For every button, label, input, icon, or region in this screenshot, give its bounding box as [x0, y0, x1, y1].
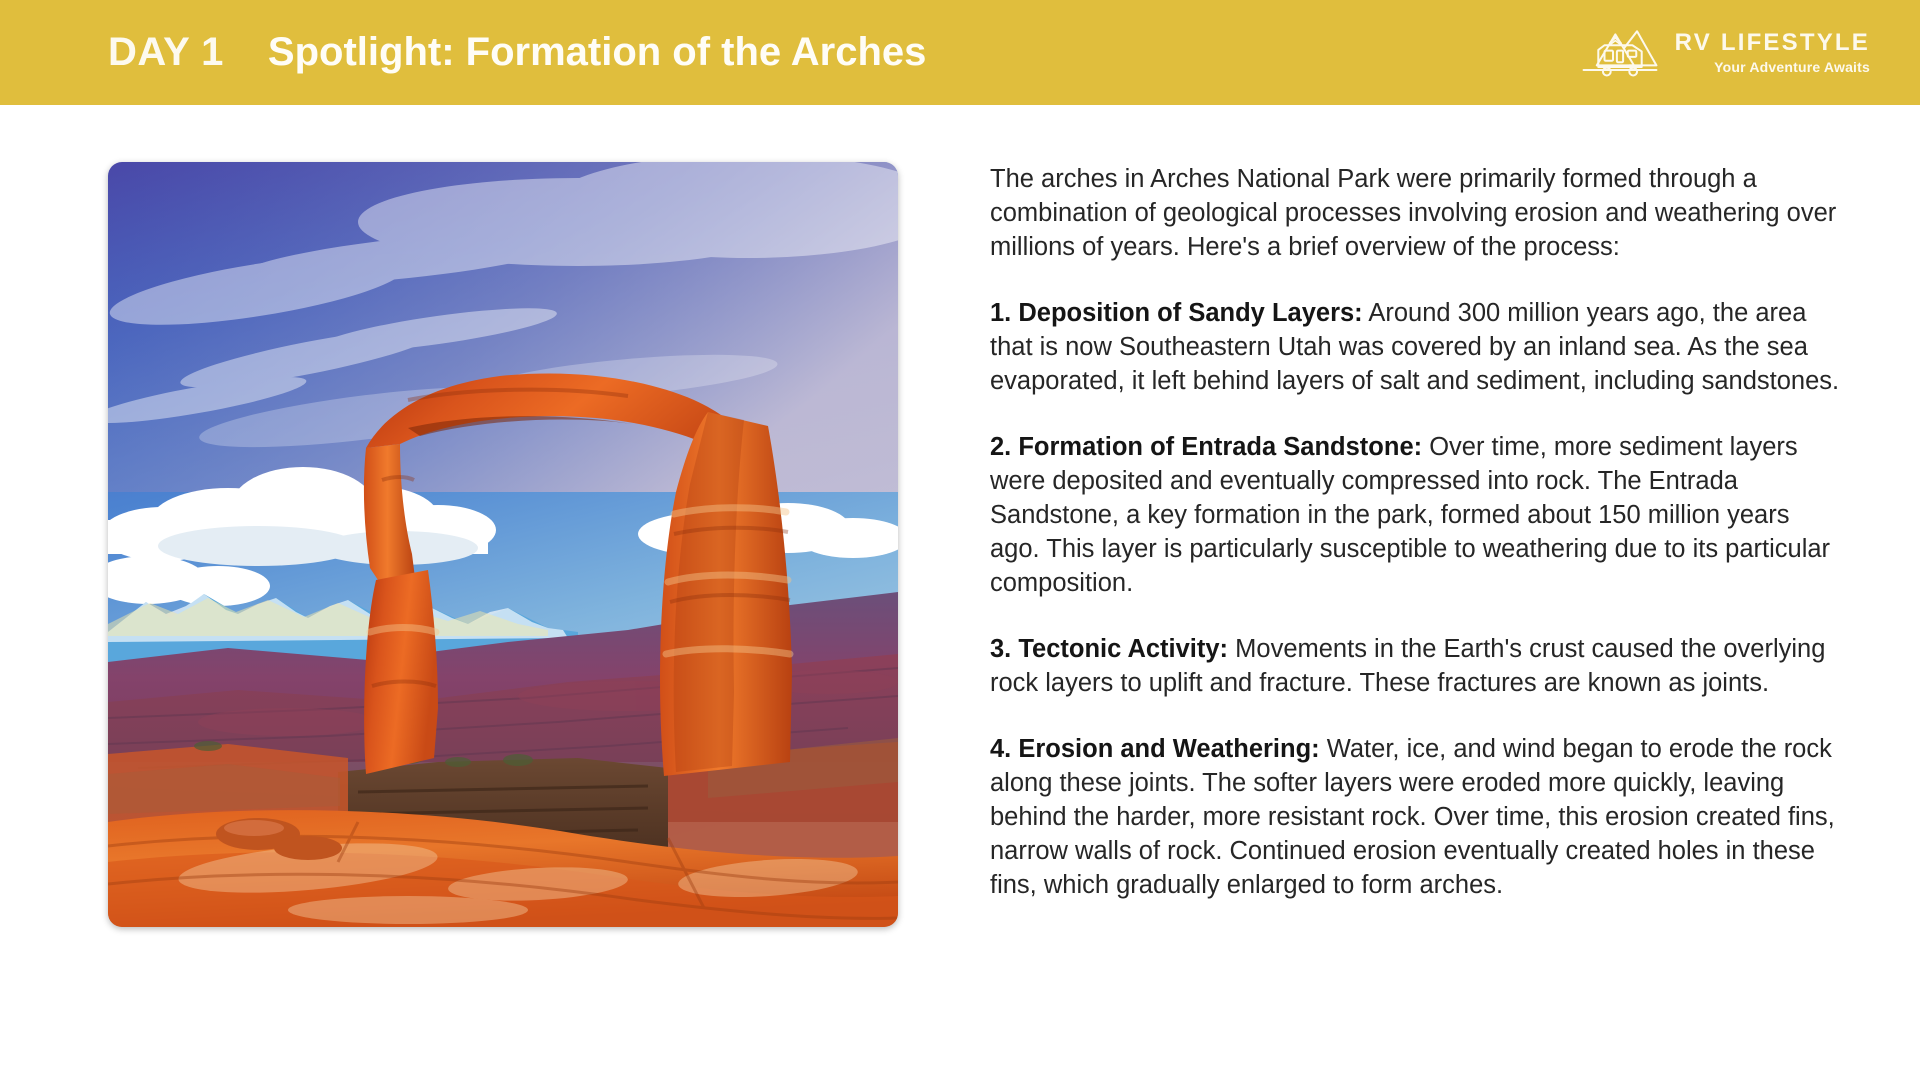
page-title: Spotlight: Formation of the Arches — [268, 30, 927, 75]
brand-logo: RV LIFESTYLE Your Adventure Awaits — [1581, 22, 1870, 84]
page-header: DAY 1 Spotlight: Formation of the Arches — [0, 0, 1920, 105]
paragraph-step-1: 1. Deposition of Sandy Layers: Around 30… — [990, 296, 1840, 398]
paragraph-step-2: 2. Formation of Entrada Sandstone: Over … — [990, 430, 1840, 600]
brand-tagline: Your Adventure Awaits — [1714, 59, 1870, 75]
day-label: DAY 1 — [108, 30, 224, 75]
paragraph-intro: The arches in Arches National Park were … — [990, 162, 1840, 264]
paragraph-step-4: 4. Erosion and Weathering: Water, ice, a… — [990, 732, 1840, 902]
brand-text: RV LIFESTYLE Your Adventure Awaits — [1675, 30, 1870, 74]
delicate-arch-illustration — [108, 162, 898, 927]
step-4-heading: 4. Erosion and Weathering: — [990, 735, 1320, 763]
step-1-heading: 1. Deposition of Sandy Layers: — [990, 299, 1363, 327]
header-title-group: DAY 1 Spotlight: Formation of the Arches — [108, 30, 926, 75]
delicate-arch-photo — [108, 162, 898, 927]
step-2-heading: 2. Formation of Entrada Sandstone: — [990, 433, 1422, 461]
page-content: The arches in Arches National Park were … — [0, 105, 1920, 1080]
step-3-heading: 3. Tectonic Activity: — [990, 635, 1228, 663]
paragraph-step-3: 3. Tectonic Activity: Movements in the E… — [990, 632, 1840, 700]
article-body: The arches in Arches National Park were … — [990, 162, 1840, 902]
mountain-rv-camper-icon — [1581, 22, 1659, 84]
brand-name: RV LIFESTYLE — [1675, 30, 1870, 55]
